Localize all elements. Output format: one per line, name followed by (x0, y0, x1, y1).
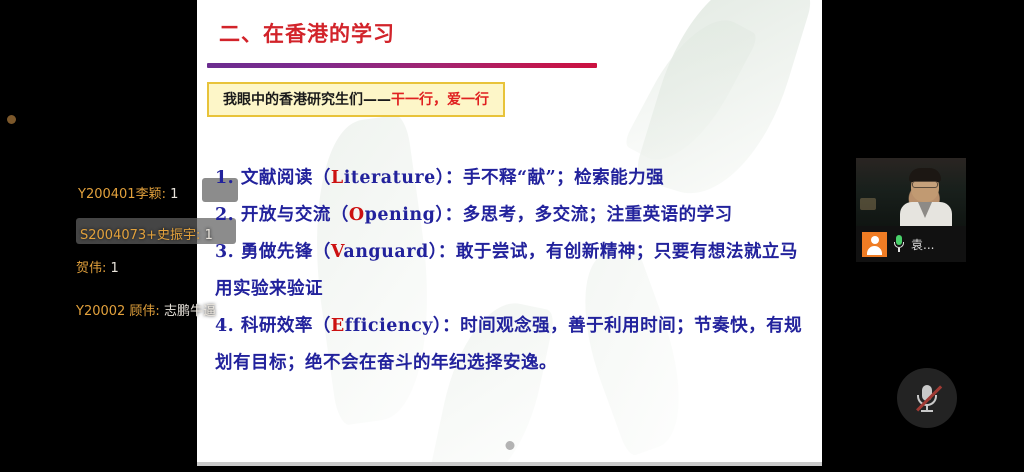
chat-message: 贺伟: 1 (76, 257, 119, 276)
item-english-capital: O (349, 205, 365, 225)
participant-name-bar: 袁... (856, 226, 966, 262)
person-icon (862, 232, 887, 257)
item-english-rest: fficiency (345, 316, 433, 336)
participant-video-feed (856, 158, 966, 226)
item-english-capital: V (331, 242, 343, 262)
chat-text: 1 (111, 261, 119, 276)
item-suffix: ）：多思考，多交流；注重英语的学习 (435, 205, 732, 225)
slide-body-list: 1. 文献阅读（Literature）：手不释“献”；检索能力强 2. 开放与交… (215, 160, 810, 382)
item-english-rest: pening (365, 205, 436, 225)
slide-page-indicator-dot[interactable] (505, 441, 514, 450)
slide-body-item: 4. 科研效率（Efficiency）：时间观念强，善于利用时间；节奏快，有规划… (215, 308, 810, 382)
chat-sender: S2004073+史振宇: (80, 228, 200, 243)
subtitle-text-red: 干一行，爱一行 (391, 92, 489, 108)
participant-video-tile[interactable]: 袁... (856, 158, 966, 262)
background-light (860, 198, 876, 210)
mute-toggle-button[interactable] (897, 368, 957, 428)
item-prefix: 4. 科研效率（ (215, 316, 331, 336)
participant-hair (909, 168, 941, 182)
slide-bottom-border (197, 462, 822, 466)
slide-body-item: 2. 开放与交流（Opening）：多思考，多交流；注重英语的学习 (215, 197, 810, 234)
slide-subtitle-box: 我眼中的香港研究生们——干一行，爱一行 (207, 82, 505, 117)
slide-body-item: 3. 勇做先锋（Vanguard）：敢于尝试，有创新精神；只要有想法就立马用实验… (215, 234, 810, 308)
subtitle-text-black: 我眼中的香港研究生们—— (223, 92, 391, 108)
microphone-icon[interactable] (893, 235, 905, 253)
microphone-muted-icon (916, 383, 938, 413)
chat-message: Y20002 顾伟: 志鹏牛逼 (76, 300, 216, 319)
shared-slide[interactable]: 二、在香港的学习 我眼中的香港研究生们——干一行，爱一行 1. 文献阅读（Lit… (197, 0, 822, 466)
item-english-capital: L (331, 168, 344, 188)
item-english-rest: iterature (344, 168, 436, 188)
chat-sender: Y20002 顾伟: (76, 304, 160, 319)
chat-sender: 贺伟: (76, 261, 106, 276)
item-prefix: 2. 开放与交流（ (215, 205, 349, 225)
item-prefix: 1. 文献阅读（ (215, 168, 331, 188)
slide-body-item: 1. 文献阅读（Literature）：手不释“献”；检索能力强 (215, 160, 810, 197)
item-suffix: ）：手不释“献”；检索能力强 (436, 168, 664, 188)
chat-message: S2004073+史振宇: 1 (80, 224, 213, 243)
meeting-screen: 二、在香港的学习 我眼中的香港研究生们——干一行，爱一行 1. 文献阅读（Lit… (0, 0, 1024, 472)
item-prefix: 3. 勇做先锋（ (215, 242, 331, 262)
chat-message: Y200401李颖: 1 (78, 183, 178, 202)
chat-text: 1 (170, 187, 178, 202)
chat-sender: Y200401李颖: (78, 187, 166, 202)
title-divider (207, 63, 597, 68)
slide-title: 二、在香港的学习 (219, 18, 395, 48)
glasses-icon (912, 181, 938, 188)
item-english-capital: E (331, 316, 345, 336)
participant-name: 袁... (911, 236, 934, 253)
item-english-rest: anguard (343, 242, 428, 262)
